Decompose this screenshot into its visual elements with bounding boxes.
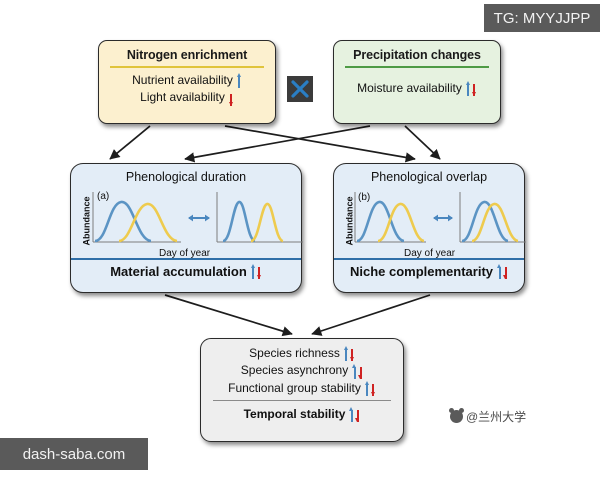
item-label: Light availability — [140, 89, 225, 106]
arrow-up-icon — [251, 264, 256, 279]
outcome-item: Species asynchrony — [201, 362, 403, 379]
driver-item: Moisture availability — [334, 80, 500, 97]
item-label: Moisture availability — [357, 80, 462, 97]
arrow-group — [466, 81, 477, 96]
arrow-group — [497, 264, 508, 279]
driver-item: Nutrient availability — [99, 72, 275, 89]
outcome-item: Functional group stability — [201, 380, 403, 397]
x-axis-label-a: Day of year — [159, 248, 211, 258]
arrow-up-icon — [497, 264, 502, 279]
arrow-group — [352, 364, 363, 379]
panel-title-a: Phenological duration — [71, 164, 301, 184]
curve-blue-a-after — [223, 202, 255, 241]
watermark-bottom-left: dash-saba.com — [0, 438, 148, 470]
arrow-up-icon — [352, 364, 357, 379]
plot-area-b: Abundance (b) Day of year — [342, 186, 516, 258]
arrow-group — [365, 381, 376, 396]
driver-items-nitrogen: Nutrient availability Light availability — [99, 68, 275, 107]
arrow-down-icon — [371, 381, 376, 396]
item-label: Functional group stability — [228, 380, 361, 397]
arrow-down-icon — [355, 407, 360, 422]
watermark-top-right: TG: MYYJJPP — [484, 4, 600, 32]
driver-box-nitrogen[interactable]: Nitrogen enrichment Nutrient availabilit… — [98, 40, 276, 124]
arrow-down-icon — [229, 91, 234, 106]
driver-items-precipitation: Moisture availability — [334, 68, 500, 97]
outcome-item: Species richness — [201, 345, 403, 362]
subpanel-label-a: (a) — [97, 191, 109, 202]
arrow-up-icon — [349, 407, 354, 422]
multiply-operator-icon — [287, 76, 313, 102]
arrow-group — [344, 346, 355, 361]
arrow-group — [251, 264, 262, 279]
plot-area-a: Abundance (a) Day of year — [79, 186, 293, 258]
arrow-down-icon — [257, 264, 262, 279]
arrow-up-icon — [344, 346, 349, 361]
driver-title-nitrogen: Nitrogen enrichment — [99, 41, 275, 62]
figure-canvas: Nitrogen enrichment Nutrient availabilit… — [0, 0, 600, 480]
item-label: Species richness — [249, 345, 340, 362]
curve-yellow-a-before — [119, 204, 177, 241]
item-label: Nutrient availability — [132, 72, 233, 89]
arrow-down-icon — [358, 364, 363, 379]
driver-title-precipitation: Precipitation changes — [334, 41, 500, 62]
outcome-items: Species richness Species asynchrony Func… — [201, 339, 403, 397]
arrow-group — [237, 73, 242, 88]
driver-box-precipitation[interactable]: Precipitation changes Moisture availabil… — [333, 40, 501, 124]
arrow-up-icon — [365, 381, 370, 396]
panel-footer-a: Material accumulation — [71, 260, 301, 279]
arrow-group — [349, 407, 360, 422]
outcome-summary: Temporal stability — [201, 401, 403, 423]
curve-yellow-a-after — [251, 204, 283, 241]
watermark-attribution: @兰州大学 — [450, 408, 526, 425]
item-label: Species asynchrony — [241, 362, 348, 379]
curve-yellow-b-before — [378, 204, 424, 241]
mechanism-panel-a[interactable]: Phenological duration Abundance (a) Day … — [70, 163, 302, 293]
x-axis-label-b: Day of year — [404, 248, 456, 258]
driver-item: Light availability — [99, 89, 275, 106]
outcome-box[interactable]: Species richness Species asynchrony Func… — [200, 338, 404, 442]
arrow-up-icon — [237, 73, 242, 88]
arrow-down-icon — [472, 81, 477, 96]
footer-label: Material accumulation — [110, 264, 247, 279]
footer-label: Niche complementarity — [350, 264, 493, 279]
arrow-up-icon — [466, 81, 471, 96]
subpanel-label-b: (b) — [358, 192, 370, 203]
panel-title-b: Phenological overlap — [334, 164, 524, 184]
panel-footer-b: Niche complementarity — [334, 260, 524, 279]
panda-logo-icon — [450, 410, 463, 423]
attribution-text: @兰州大学 — [466, 408, 526, 425]
arrow-group — [229, 91, 234, 106]
summary-label: Temporal stability — [244, 406, 346, 423]
mechanism-panel-b[interactable]: Phenological overlap Abundance (b) Day o… — [333, 163, 525, 293]
arrow-down-icon — [350, 346, 355, 361]
arrow-down-icon — [503, 264, 508, 279]
